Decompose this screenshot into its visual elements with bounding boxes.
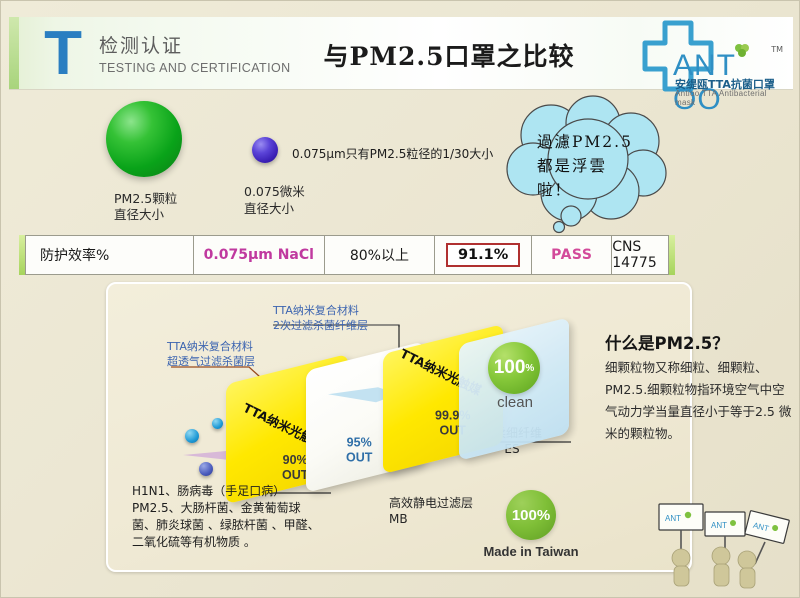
cloud-text-line3: 啦！	[537, 178, 657, 202]
table-cell-verdict: PASS	[532, 236, 612, 274]
antioo-brand-logo: ANT OO TM 安缇瓯TTA抗菌口罩 Antioo TTA Antibact…	[635, 19, 785, 97]
mask-layer-2-out: 95% OUT	[346, 435, 372, 465]
clover-leaf-icon	[732, 43, 752, 59]
cloud-text-line2: 都是浮雲	[537, 154, 657, 178]
header-green-accent-bar	[9, 17, 19, 89]
clean-badge: 100%	[488, 342, 540, 394]
pm25-particle-label: PM2.5颗粒 直径大小	[114, 191, 177, 223]
certification-title-en: TESTING AND CERTIFICATION	[99, 61, 291, 75]
result-highlight-value: 91.1%	[446, 243, 520, 267]
label-top-secondary-filter: TTA纳米复合材料 2次过滤杀菌纤维层	[273, 303, 368, 333]
micro-particle-label: 0.075微米 直径大小	[244, 183, 305, 217]
table-cell-agent: 0.075μm NaCl	[194, 236, 326, 274]
mascot-figures-group: ANTANT ANT	[643, 496, 795, 591]
micro-particle-label-line1: 0.075微米	[244, 183, 305, 200]
table-cell-standard: 80%以上	[325, 236, 435, 274]
clean-badge-value: 100	[494, 357, 526, 379]
pm25-particle-label-line1: PM2.5颗粒	[114, 191, 177, 207]
label-top-line2: 2次过滤杀菌纤维层	[273, 318, 368, 333]
label-mb-electrostatic: 高效静电过滤层 MB	[389, 495, 473, 527]
cloud-bubble-text: 過濾PM2.5 都是浮雲 啦！	[537, 130, 657, 202]
particle-ratio-note: 0.075μm只有PM2.5粒径的1/30大小	[292, 145, 493, 162]
trademark-symbol: TM	[771, 45, 783, 54]
clean-badge-label: clean	[488, 394, 542, 411]
mask-layer-1-out-unit: OUT	[282, 468, 308, 483]
table-cell-metric: 防护效率%	[26, 236, 194, 274]
mask-layer-1-out: 90% OUT	[282, 453, 308, 483]
three-figures-with-signs-icon: ANTANT ANT	[643, 496, 795, 591]
pathogen-list-text: H1N1、肠病毒（手足口病）PM2.5、大肠杆菌、金黄葡萄球菌、肺炎球菌 、绿脓…	[132, 483, 322, 551]
label-left-breathable-layer: TTA纳米复合材料 超透气过滤杀菌层	[167, 339, 255, 369]
made-in-taiwan-label: Made in Taiwan	[467, 544, 595, 559]
table-right-accent	[669, 235, 675, 275]
table-cell-norm: CNS 14775	[612, 236, 668, 274]
germ-dot-blue-2	[212, 418, 223, 429]
table-cell-result: 91.1%	[435, 236, 533, 274]
certification-title-cn: 检测认证	[99, 31, 183, 58]
brand-subtitle-en: Antioo TTA Antibacterial mask	[675, 89, 785, 107]
label-mb-line1: 高效静电过滤层	[389, 495, 473, 511]
mask-layer-2-out-unit: OUT	[346, 450, 372, 465]
mask-layer-2-out-value: 95%	[346, 435, 372, 450]
label-left-line2: 超透气过滤杀菌层	[167, 354, 255, 369]
label-mb-line2: MB	[389, 511, 473, 527]
micro-particle-label-line2: 直径大小	[244, 200, 305, 217]
pm25-particle-sphere	[106, 101, 182, 177]
page-title: 与PM2.5口罩之比较	[299, 37, 599, 73]
label-left-line1: TTA纳米复合材料	[167, 339, 255, 354]
clean-badge-pct: %	[525, 363, 534, 374]
cloud-text-line1: 過濾PM2.5	[537, 130, 657, 154]
pm25-info-title: 什么是PM2.5？	[605, 330, 729, 354]
pm25-particle-label-line2: 直径大小	[114, 207, 177, 223]
efficiency-result-table: 防护效率% 0.075μm NaCl 80%以上 91.1% PASS CNS …	[25, 235, 669, 275]
slide-header: T 检测认证 TESTING AND CERTIFICATION 与PM2.5口…	[9, 17, 793, 90]
micro-particle-sphere	[252, 137, 278, 163]
made-in-taiwan-badge: 100%	[506, 490, 556, 540]
label-top-line1: TTA纳米复合材料	[273, 303, 368, 318]
svg-text:ANT: ANT	[711, 521, 727, 530]
testing-logo-letter: T	[35, 25, 91, 85]
mask-layer-1-out-value: 90%	[282, 453, 308, 468]
slide-root: T 检测认证 TESTING AND CERTIFICATION 与PM2.5口…	[0, 0, 800, 598]
pm25-info-body: 细颗粒物又称细粒、细颗粒、PM2.5.细颗粒物指环境空气中空气动力学当量直径小于…	[605, 357, 797, 445]
thought-cloud-bubble: 過濾PM2.5 都是浮雲 啦！	[493, 97, 683, 232]
svg-text:ANT: ANT	[665, 514, 681, 523]
